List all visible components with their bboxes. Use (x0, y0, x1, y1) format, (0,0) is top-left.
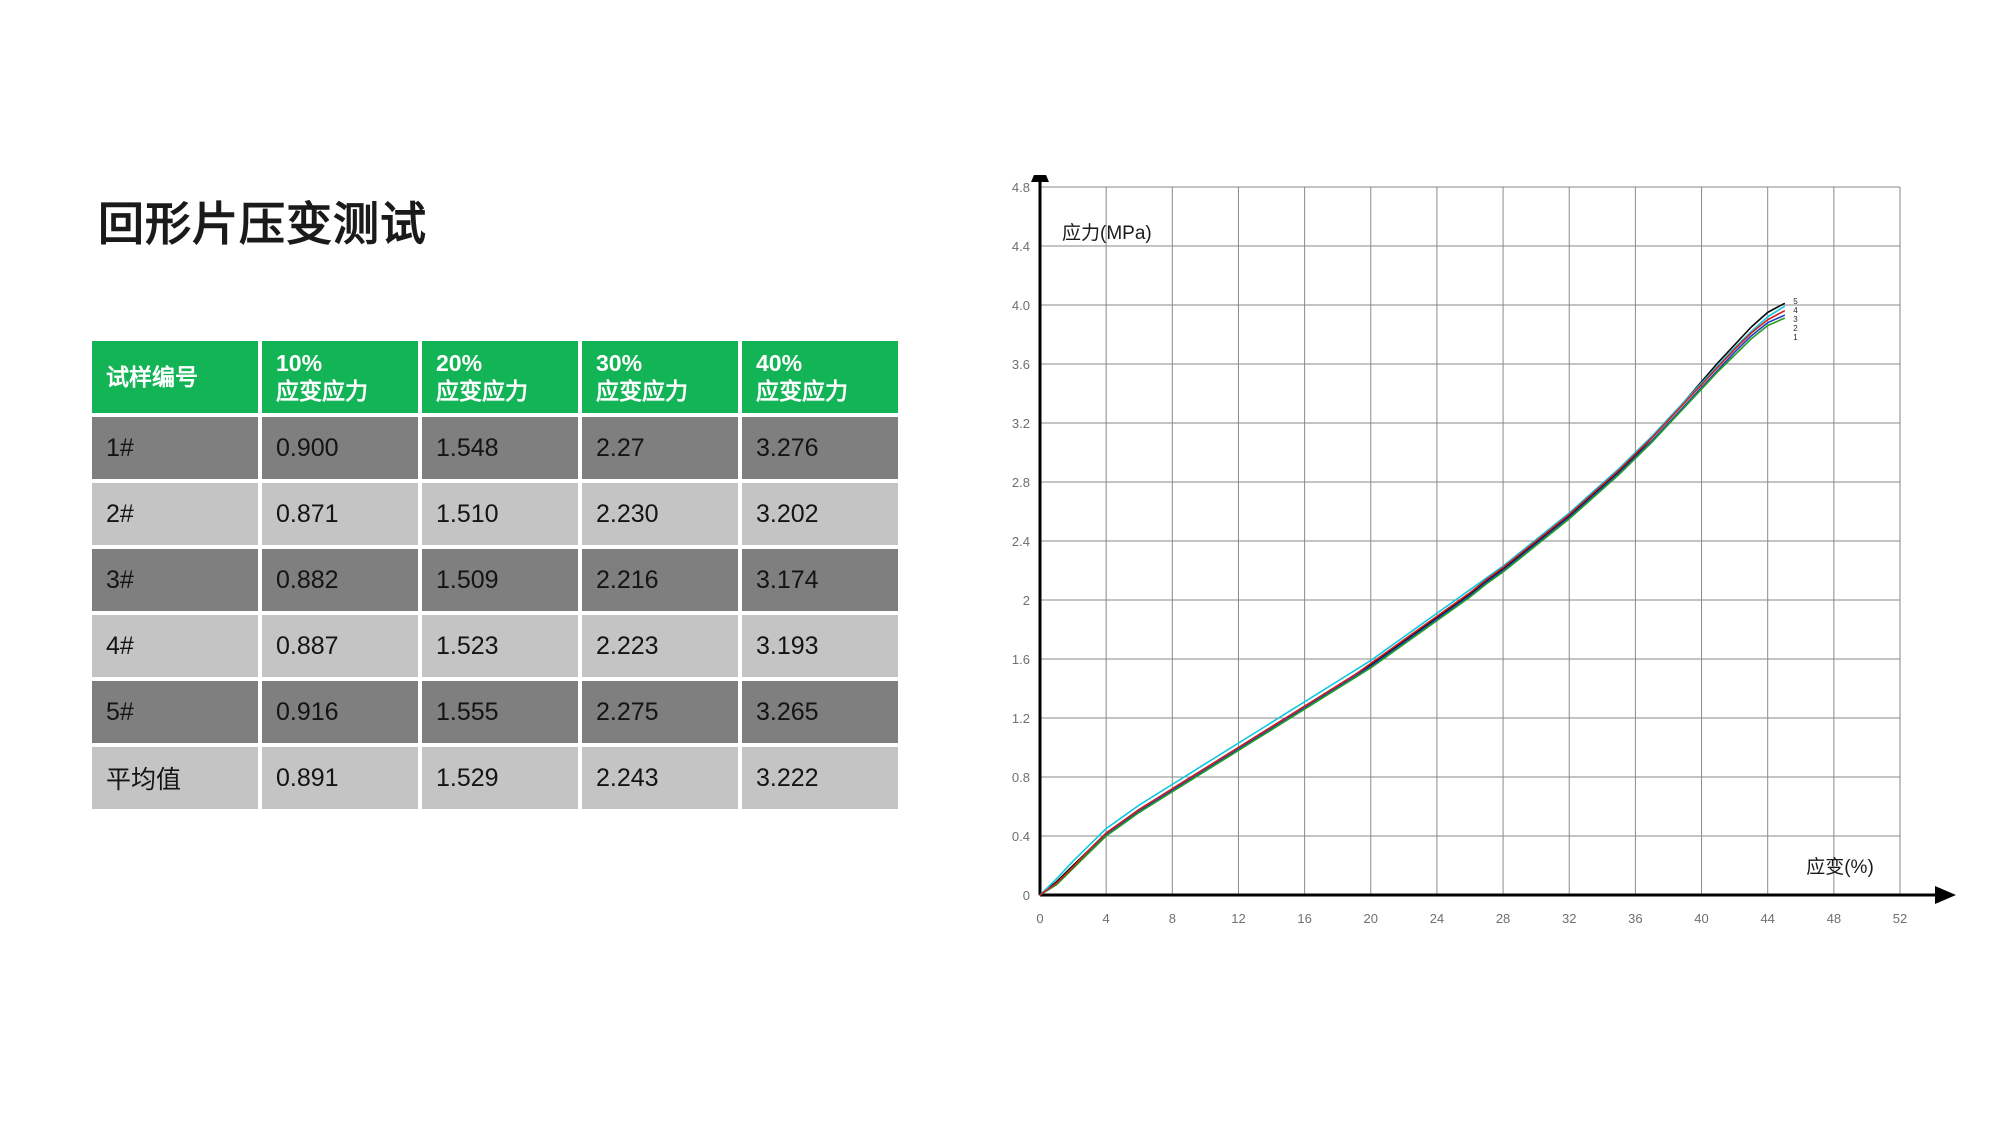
chart-tick-labels: 00.40.81.21.622.42.83.23.64.04.44.804812… (1012, 180, 1907, 926)
cell-strain-10: 0.882 (262, 549, 418, 611)
series-line-3 (1040, 306, 1784, 895)
y-tick-label: 2.8 (1012, 475, 1030, 490)
table-row: 4# 0.887 1.523 2.223 3.193 (92, 615, 898, 677)
table-header-row: 试样编号 10% 应变应力 20% 应变应力 30% 应变应力 40% 应变应力 (92, 341, 898, 413)
y-tick-label: 3.2 (1012, 416, 1030, 431)
x-tick-label: 44 (1760, 911, 1774, 926)
series-line-4 (1040, 318, 1784, 895)
series-endpoint-label: 2 (1793, 324, 1798, 333)
x-tick-label: 0 (1036, 911, 1043, 926)
series-line-5 (1040, 311, 1784, 895)
column-header-strain-10: 10% 应变应力 (262, 341, 418, 413)
cell-strain-40: 3.193 (742, 615, 898, 677)
column-header-strain-20-label: 应变应力 (436, 377, 578, 405)
x-tick-label: 40 (1694, 911, 1708, 926)
x-tick-label: 12 (1231, 911, 1245, 926)
column-header-strain-30: 30% 应变应力 (582, 341, 738, 413)
stress-strain-chart: 00.40.81.21.622.42.83.23.64.04.44.804812… (1000, 175, 1980, 965)
column-header-sample-id: 试样编号 (92, 341, 258, 413)
cell-strain-40: 3.202 (742, 483, 898, 545)
table-row: 2# 0.871 1.510 2.230 3.202 (92, 483, 898, 545)
y-tick-label: 0.4 (1012, 829, 1030, 844)
series-endpoint-label: 4 (1793, 306, 1798, 315)
x-tick-label: 4 (1103, 911, 1110, 926)
cell-sample-id: 1# (92, 417, 258, 479)
x-tick-label: 48 (1827, 911, 1841, 926)
column-header-strain-20-pct: 20% (436, 349, 578, 377)
page-title: 回形片压变测试 (98, 188, 427, 254)
cell-sample-id: 5# (92, 681, 258, 743)
cell-sample-id: 2# (92, 483, 258, 545)
column-header-strain-30-pct: 30% (596, 349, 738, 377)
column-header-sample-id-label: 试样编号 (106, 363, 258, 391)
column-header-strain-40-pct: 40% (756, 349, 898, 377)
x-tick-label: 32 (1562, 911, 1576, 926)
cell-strain-20: 1.509 (422, 549, 578, 611)
y-axis-title-text: 应力(MPa) (1062, 222, 1152, 244)
cell-strain-30: 2.27 (582, 417, 738, 479)
y-tick-label: 4.8 (1012, 180, 1030, 195)
series-line-2 (1040, 315, 1784, 895)
cell-strain-30: 2.243 (582, 747, 738, 809)
y-tick-label: 2.4 (1012, 534, 1030, 549)
cell-strain-40: 3.265 (742, 681, 898, 743)
cell-sample-id: 平均值 (92, 747, 258, 809)
y-tick-label: 1.2 (1012, 711, 1030, 726)
series-endpoint-label: 3 (1793, 315, 1798, 324)
series-line-1 (1040, 304, 1784, 895)
x-tick-label: 8 (1169, 911, 1176, 926)
table-row: 3# 0.882 1.509 2.216 3.174 (92, 549, 898, 611)
column-header-strain-10-label: 应变应力 (276, 377, 418, 405)
cell-strain-30: 2.223 (582, 615, 738, 677)
x-tick-label: 16 (1297, 911, 1311, 926)
cell-strain-30: 2.216 (582, 549, 738, 611)
cell-strain-20: 1.523 (422, 615, 578, 677)
cell-strain-10: 0.891 (262, 747, 418, 809)
cell-strain-20: 1.529 (422, 747, 578, 809)
chart-gridlines (1040, 187, 1900, 895)
cell-sample-id: 3# (92, 549, 258, 611)
cell-strain-40: 3.174 (742, 549, 898, 611)
table-body: 1# 0.900 1.548 2.27 3.276 2# 0.871 1.510… (92, 417, 898, 809)
cell-strain-10: 0.916 (262, 681, 418, 743)
stress-strain-table: 试样编号 10% 应变应力 20% 应变应力 30% 应变应力 40% 应变应力… (88, 337, 902, 813)
y-tick-label: 0.8 (1012, 770, 1030, 785)
cell-strain-30: 2.230 (582, 483, 738, 545)
column-header-strain-30-label: 应变应力 (596, 377, 738, 405)
y-tick-label: 1.6 (1012, 652, 1030, 667)
cell-strain-40: 3.222 (742, 747, 898, 809)
chart-endpoint-labels: 54321 (1793, 297, 1798, 342)
table-row: 1# 0.900 1.548 2.27 3.276 (92, 417, 898, 479)
cell-strain-30: 2.275 (582, 681, 738, 743)
cell-strain-20: 1.510 (422, 483, 578, 545)
table-header: 试样编号 10% 应变应力 20% 应变应力 30% 应变应力 40% 应变应力 (92, 341, 898, 413)
x-tick-label: 28 (1496, 911, 1510, 926)
x-tick-label: 24 (1430, 911, 1444, 926)
cell-strain-20: 1.555 (422, 681, 578, 743)
y-tick-label: 2 (1023, 593, 1030, 608)
cell-strain-10: 0.900 (262, 417, 418, 479)
y-tick-label: 0 (1023, 888, 1030, 903)
x-axis-title-text: 应变(%) (1806, 856, 1874, 878)
chart-series (1040, 304, 1784, 895)
y-tick-label: 4.4 (1012, 239, 1030, 254)
x-tick-label: 36 (1628, 911, 1642, 926)
column-header-strain-20: 20% 应变应力 (422, 341, 578, 413)
table-row: 平均值 0.891 1.529 2.243 3.222 (92, 747, 898, 809)
cell-strain-40: 3.276 (742, 417, 898, 479)
column-header-strain-40-label: 应变应力 (756, 377, 898, 405)
x-tick-label: 20 (1364, 911, 1378, 926)
cell-sample-id: 4# (92, 615, 258, 677)
chart-svg: 00.40.81.21.622.42.83.23.64.04.44.804812… (1000, 175, 1980, 965)
y-tick-label: 4.0 (1012, 298, 1030, 313)
x-tick-label: 52 (1893, 911, 1907, 926)
series-endpoint-label: 1 (1793, 333, 1798, 342)
cell-strain-20: 1.548 (422, 417, 578, 479)
table-row: 5# 0.916 1.555 2.275 3.265 (92, 681, 898, 743)
cell-strain-10: 0.871 (262, 483, 418, 545)
column-header-strain-10-pct: 10% (276, 349, 418, 377)
column-header-strain-40: 40% 应变应力 (742, 341, 898, 413)
series-endpoint-label: 5 (1793, 297, 1798, 306)
y-tick-label: 3.6 (1012, 357, 1030, 372)
cell-strain-10: 0.887 (262, 615, 418, 677)
